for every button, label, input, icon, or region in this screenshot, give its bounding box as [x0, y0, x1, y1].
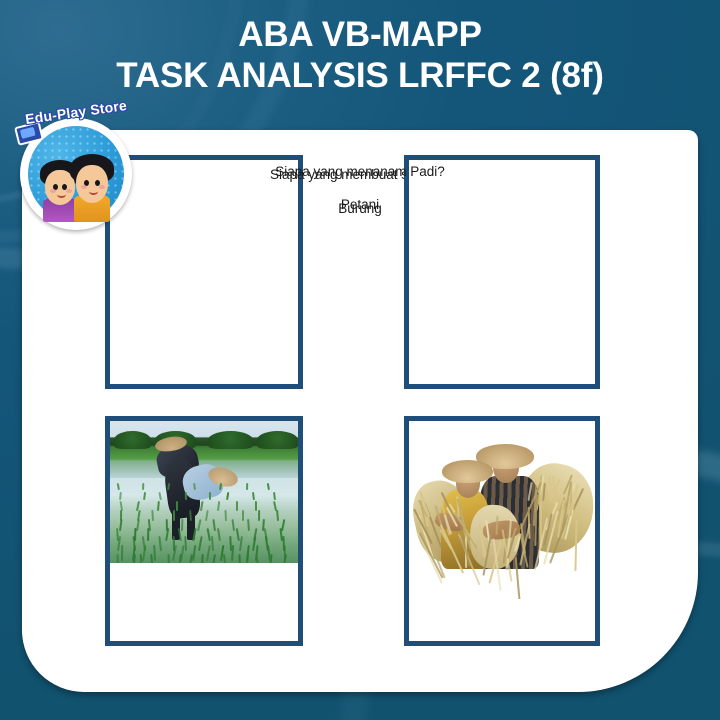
- rice-sprout: [242, 510, 244, 521]
- rice-sprout: [212, 519, 216, 531]
- rice-sprout: [256, 554, 261, 563]
- rice-sprout: [117, 483, 120, 490]
- rice-sprout: [167, 554, 169, 563]
- rice-sprout: [209, 492, 211, 500]
- rice-field-image: [110, 421, 298, 563]
- rice-stalk: [574, 520, 577, 571]
- rice-sprout: [217, 528, 221, 542]
- rice-sprout: [239, 536, 243, 551]
- boy-cheek: [81, 185, 87, 189]
- rice-sprout: [159, 492, 163, 501]
- rice-sprout: [205, 510, 209, 521]
- rice-sprout: [232, 519, 235, 531]
- tree: [114, 431, 152, 449]
- rice-field-illustration: [110, 421, 298, 563]
- rice-sprout: [246, 483, 248, 490]
- rice-sprout: [192, 545, 196, 561]
- tree: [257, 431, 298, 449]
- rice-sprout: [157, 501, 160, 511]
- rice-sprout: [188, 554, 193, 563]
- rice-sprout: [269, 554, 273, 563]
- rice-sprout: [201, 554, 204, 563]
- rice-sprout: [223, 554, 227, 563]
- card-bird[interactable]: [404, 155, 600, 389]
- boy-face: [76, 165, 109, 203]
- rice-sprout: [197, 519, 201, 531]
- rice-sprout: [274, 492, 277, 501]
- rice-sprout: [245, 554, 249, 563]
- rice-sprout: [211, 554, 216, 563]
- rice-sprout: [247, 519, 250, 531]
- girl-mouth: [57, 191, 66, 198]
- rice-sprout: [206, 545, 211, 561]
- title-line-2: TASK ANALYSIS LRFFC 2 (8f): [0, 55, 720, 96]
- rice-sprout: [173, 510, 175, 521]
- rice-sprout: [276, 510, 279, 521]
- rice-sprout: [152, 510, 155, 521]
- rice-sprout: [255, 501, 257, 511]
- rice-sprout: [153, 545, 156, 561]
- rice-sprout: [225, 510, 228, 521]
- tree: [208, 431, 253, 449]
- farmers-illustration: [409, 421, 595, 599]
- rice-sprout: [181, 519, 183, 531]
- rice-sprout: [258, 510, 260, 521]
- rice-sprout: [226, 492, 229, 501]
- rice-sprout: [158, 536, 162, 551]
- rice-sprout: [116, 554, 118, 563]
- rice-sprout: [119, 492, 122, 501]
- rice-sprout: [282, 554, 287, 563]
- rice-sprout: [236, 501, 238, 511]
- boy-mouth: [89, 188, 98, 195]
- rice-sprout: [252, 492, 255, 501]
- slide-root: ABA VB-MAPP TASK ANALYSIS LRFFC 2 (8f) S…: [0, 0, 720, 720]
- rice-sprout: [185, 492, 187, 500]
- card-farmers[interactable]: [404, 416, 600, 646]
- female-farmer-hat: [442, 460, 492, 483]
- card-rice-field[interactable]: [105, 416, 303, 646]
- girl-cheek: [50, 189, 56, 193]
- title-line-1: ABA VB-MAPP: [238, 15, 481, 54]
- page-title: ABA VB-MAPP TASK ANALYSIS LRFFC 2 (8f): [0, 14, 720, 97]
- rice-sprout: [238, 554, 240, 563]
- rice-sprout: [143, 492, 146, 501]
- rice-sprout: [119, 519, 123, 531]
- boy-cheek: [99, 185, 105, 189]
- rice-sprout: [121, 545, 123, 561]
- rice-sprout: [217, 501, 220, 511]
- rice-sprout: [231, 545, 234, 561]
- logo-ribbon: Edu-Play Store: [12, 104, 140, 170]
- rice-sprout: [142, 483, 144, 490]
- farmers-image: [409, 421, 595, 599]
- edu-play-store-logo[interactable]: Edu-Play Store: [14, 108, 138, 232]
- rice-sprout: [198, 536, 203, 551]
- rice-sprout: [267, 483, 270, 490]
- rice-sprout: [211, 536, 214, 551]
